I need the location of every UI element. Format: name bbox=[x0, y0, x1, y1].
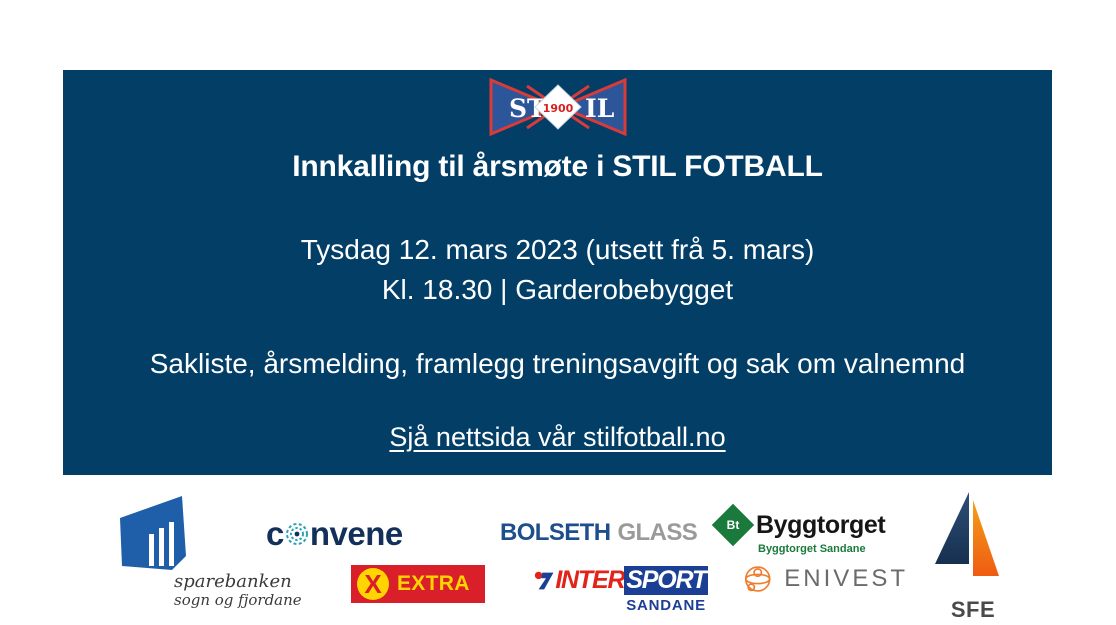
event-date-line: Tysdag 12. mars 2023 (utsett frå 5. mars… bbox=[63, 230, 1052, 270]
byggtorget-sub: Byggtorget Sandane bbox=[758, 543, 893, 555]
intersport-sub: SANDANE bbox=[533, 597, 708, 614]
intersport-part2: SPORT bbox=[624, 566, 708, 595]
agenda-line: Sakliste, årsmelding, framlegg treningsa… bbox=[63, 348, 1052, 380]
intersport-swoosh-icon bbox=[533, 570, 555, 592]
sponsor-enivest[interactable]: ENIVEST bbox=[743, 563, 908, 605]
convene-part1: c bbox=[266, 515, 284, 553]
byggtorget-diamond-icon: Bt bbox=[712, 504, 754, 546]
club-logo-year: 1900 bbox=[542, 102, 573, 115]
bolseth-part2: GLASS bbox=[617, 519, 697, 547]
convene-dot-icon bbox=[285, 522, 309, 546]
page-title: Innkalling til årsmøte i STIL FOTBALL bbox=[63, 150, 1052, 184]
announcement-panel: ST IL 1900 Innkalling til årsmøte i STIL… bbox=[63, 70, 1052, 475]
convene-part2: nvene bbox=[310, 515, 403, 553]
website-link-row: Sjå nettsida vår stilfotball.no bbox=[63, 422, 1052, 453]
sparebanken-wordmark: sparebanken sogn og fjordane bbox=[174, 572, 302, 609]
sfe-wordmark: SFE bbox=[925, 597, 1021, 623]
stil-club-logo: ST IL 1900 bbox=[487, 76, 629, 138]
event-details: Tysdag 12. mars 2023 (utsett frå 5. mars… bbox=[63, 230, 1052, 310]
sparebanken-line2: sogn og fjordane bbox=[174, 592, 302, 609]
event-time-venue-line: Kl. 18.30 | Garderobebygget bbox=[63, 270, 1052, 310]
sponsor-intersport-sandane[interactable]: INTER SPORT SANDANE bbox=[533, 566, 708, 614]
convene-wordmark: c nvene bbox=[266, 514, 416, 554]
extra-x-icon: X bbox=[357, 568, 389, 600]
sfe-sails-icon bbox=[925, 490, 1021, 590]
sponsor-byggtorget[interactable]: Bt Byggtorget Byggtorget Sandane bbox=[718, 510, 893, 560]
sponsor-extra[interactable]: X EXTRA bbox=[351, 565, 485, 603]
enivest-wordmark: ENIVEST bbox=[784, 565, 908, 593]
enivest-network-icon bbox=[743, 563, 774, 595]
bolseth-part1: BOLSETH bbox=[500, 519, 610, 547]
intersport-part1: INTER bbox=[555, 566, 624, 595]
sparebanken-line1: sparebanken bbox=[174, 572, 302, 592]
extra-badge: X EXTRA bbox=[351, 565, 485, 603]
sparebanken-mark-icon bbox=[116, 494, 206, 579]
club-logo-right-text: IL bbox=[585, 94, 615, 123]
byggtorget-wordmark: Byggtorget bbox=[756, 511, 885, 540]
website-link[interactable]: Sjå nettsida vår stilfotball.no bbox=[389, 422, 725, 452]
byggtorget-mark-text: Bt bbox=[718, 510, 748, 540]
sponsor-sfe[interactable]: SFE bbox=[925, 490, 1021, 615]
extra-wordmark: EXTRA bbox=[397, 572, 470, 596]
sponsor-convene[interactable]: c nvene bbox=[266, 514, 416, 554]
sponsor-bolseth-glass[interactable]: BOLSETH GLASS bbox=[493, 518, 673, 550]
sponsor-strip: sparebanken sogn og fjordane c nvene X E… bbox=[63, 478, 1052, 625]
